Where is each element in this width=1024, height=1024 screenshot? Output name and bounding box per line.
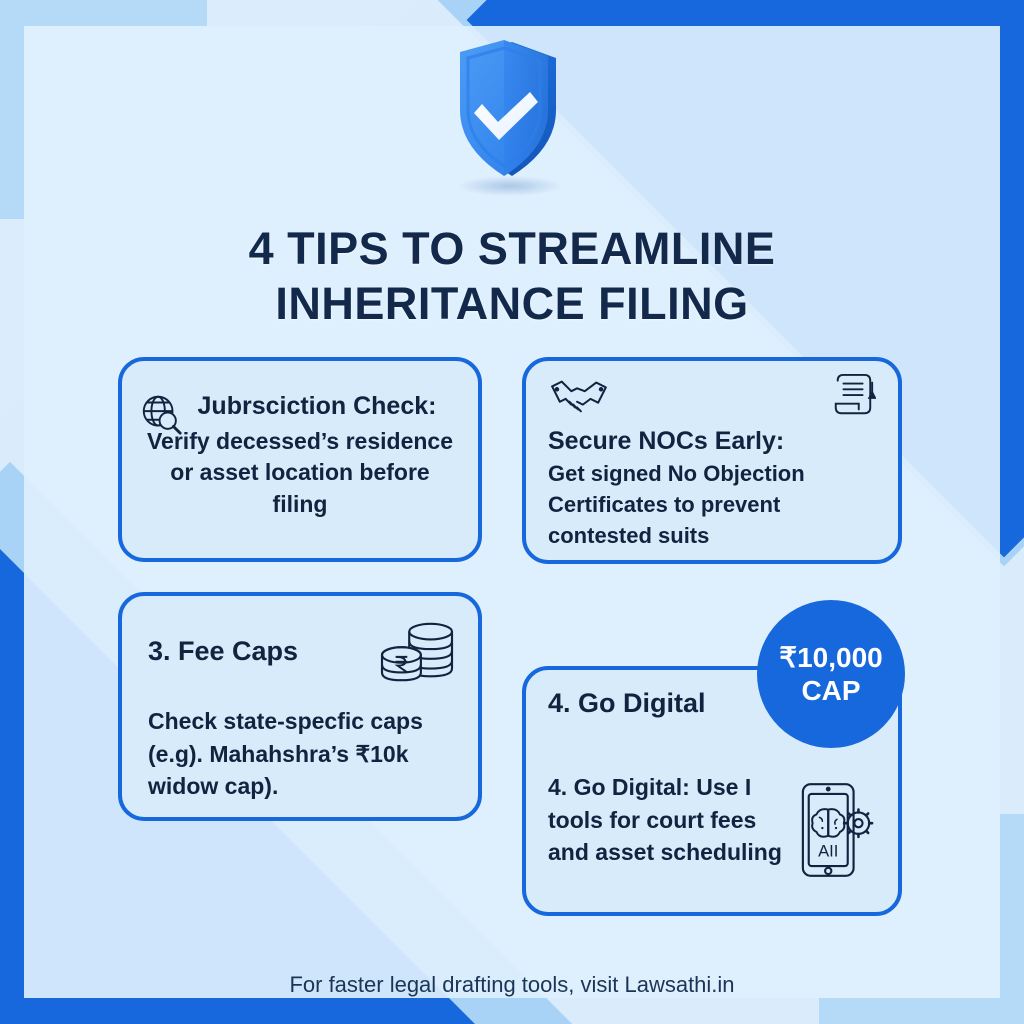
tablet-ai-brain-gear-icon: AII [798, 780, 876, 885]
card-heading: Jubrsciction Check: [178, 393, 456, 421]
fee-cap-badge[interactable]: ₹10,000 CAP [757, 600, 905, 748]
badge-amount: ₹10,000 [779, 641, 882, 674]
title-line-2: INHERITANCE FILING [0, 277, 1024, 332]
card-body: Check state-specfic caps (e.g). Mahahshr… [148, 705, 456, 803]
handshake-icon [548, 373, 610, 424]
tip-card-secure-nocs-early[interactable]: Secure NOCs Early: Get signed No Objecti… [522, 357, 902, 564]
scroll-quill-icon [830, 371, 876, 426]
card-body: Verify decessed’s residence or asset loc… [144, 426, 456, 521]
badge-label: CAP [801, 674, 860, 707]
card-heading: Secure NOCs Early: [548, 427, 878, 456]
card-body: 4. Go Digital: Use I tools for court fee… [548, 771, 798, 869]
logo-area [0, 36, 1024, 196]
globe-magnifier-icon [138, 391, 184, 442]
tip-card-jurisdiction-check[interactable]: Jubrsciction Check: Verify decessed’s re… [118, 357, 482, 562]
tip-card-fee-caps[interactable]: 3. Fee Caps Check state-specfic caps (e.… [118, 592, 482, 821]
title-line-1: 4 TIPS TO STREAMLINE [0, 222, 1024, 277]
shield-check-icon [442, 36, 582, 196]
page-title: 4 TIPS TO STREAMLINE INHERITANCE FILING [0, 222, 1024, 332]
infographic-poster: 4 TIPS TO STREAMLINE INHERITANCE FILING [0, 0, 1024, 1024]
coins-rupee-icon [378, 618, 456, 693]
card-body: Get signed No Objection Certificates to … [548, 458, 878, 552]
tablet-icon-label: AII [818, 841, 838, 860]
footer-note: For faster legal drafting tools, visit L… [0, 972, 1024, 998]
